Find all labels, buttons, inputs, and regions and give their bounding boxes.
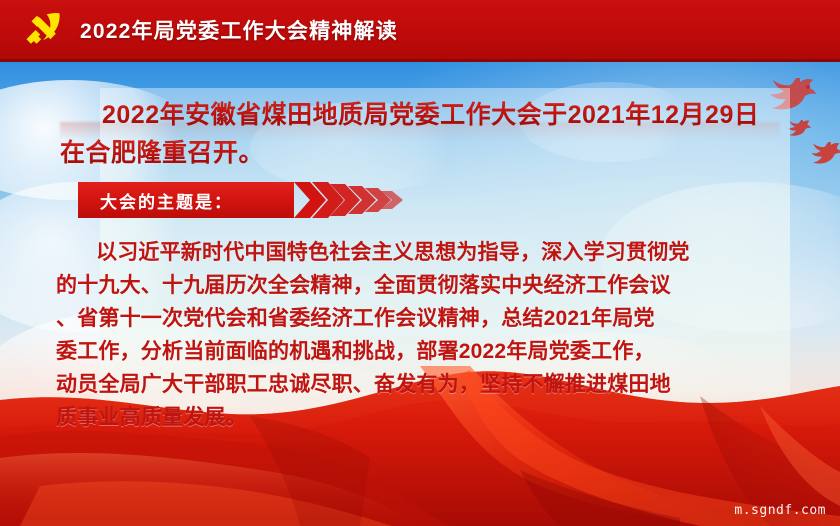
site-watermark: m.sgndf.com <box>734 503 826 518</box>
hero-title: 2022年安徽省煤田地质局党委工作大会于2021年12月29日 在合肥隆重召开。 <box>0 96 840 172</box>
theme-banner-box: 大会的主题是： <box>78 182 294 218</box>
page-title: 2022年局党委工作大会精神解读 <box>80 15 398 45</box>
body-line: 委工作，分析当前面临的机遇和挑战，部署2022年局党委工作， <box>56 335 784 368</box>
slide-canvas: 2022年安徽省煤田地质局党委工作大会于2021年12月29日 在合肥隆重召开。… <box>0 0 840 526</box>
double-chevron-right-icon <box>294 182 410 218</box>
body-line: 、省第十一次党代会和省委经济工作会议精神，总结2021年局党 <box>56 302 784 335</box>
theme-banner: 大会的主题是： <box>78 182 410 218</box>
hammer-and-sickle-emblem-icon <box>20 7 66 53</box>
body-line: 以习近平新时代中国特色社会主义思想为指导，深入学习贯彻党 <box>56 236 784 269</box>
body-paragraph: 以习近平新时代中国特色社会主义思想为指导，深入学习贯彻党 的十九大、十九届历次全… <box>0 236 840 434</box>
page-header: 2022年局党委工作大会精神解读 <box>0 0 840 62</box>
body-line: 的十九大、十九届历次全会精神，全面贯彻落实中央经济工作会议 <box>56 269 784 302</box>
theme-banner-label: 大会的主题是： <box>100 188 233 213</box>
hero-title-line-1: 2022年安徽省煤田地质局党委工作大会于2021年12月29日 <box>60 96 780 134</box>
body-line: 动员全局广大干部职工忠诚尽职、奋发有为，坚持不懈推进煤田地 <box>56 368 784 401</box>
body-line: 质事业高质量发展。 <box>56 401 784 434</box>
hero-title-line-2: 在合肥隆重召开。 <box>60 134 780 172</box>
